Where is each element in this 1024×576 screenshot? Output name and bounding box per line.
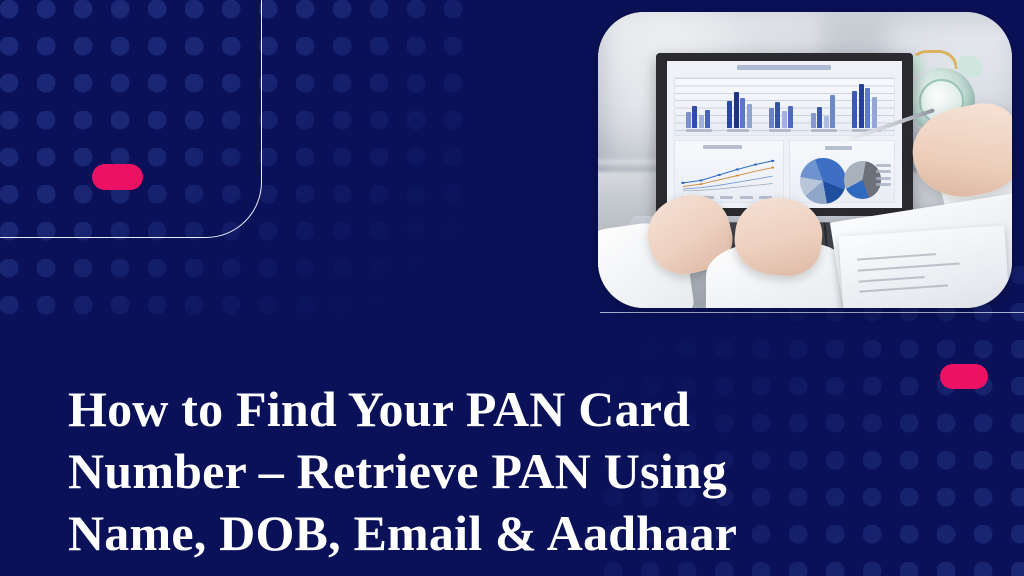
bar-group <box>727 92 752 128</box>
pink-pill-accent-left <box>92 164 143 190</box>
bar-group <box>852 84 877 128</box>
pie-chart-panel <box>789 140 895 203</box>
bar-group <box>769 102 794 128</box>
slide-canvas: How to Find Your PAN Card Number – Retri… <box>0 0 1024 576</box>
white-corner-rule <box>0 0 262 238</box>
bar-chart-panel <box>674 77 895 136</box>
printed-report-paper <box>839 225 1012 308</box>
line-chart-panel <box>674 140 785 203</box>
bar-group <box>811 95 836 128</box>
white-horizontal-rule <box>600 312 1024 313</box>
hero-photo <box>598 12 1012 308</box>
line-chart-svg <box>681 156 776 193</box>
bar-group <box>686 106 711 128</box>
pink-pill-accent-right <box>940 364 988 389</box>
page-title: How to Find Your PAN Card Number – Retri… <box>68 378 898 564</box>
screen-chart-title <box>737 65 831 70</box>
pie-chart-primary <box>800 158 846 204</box>
